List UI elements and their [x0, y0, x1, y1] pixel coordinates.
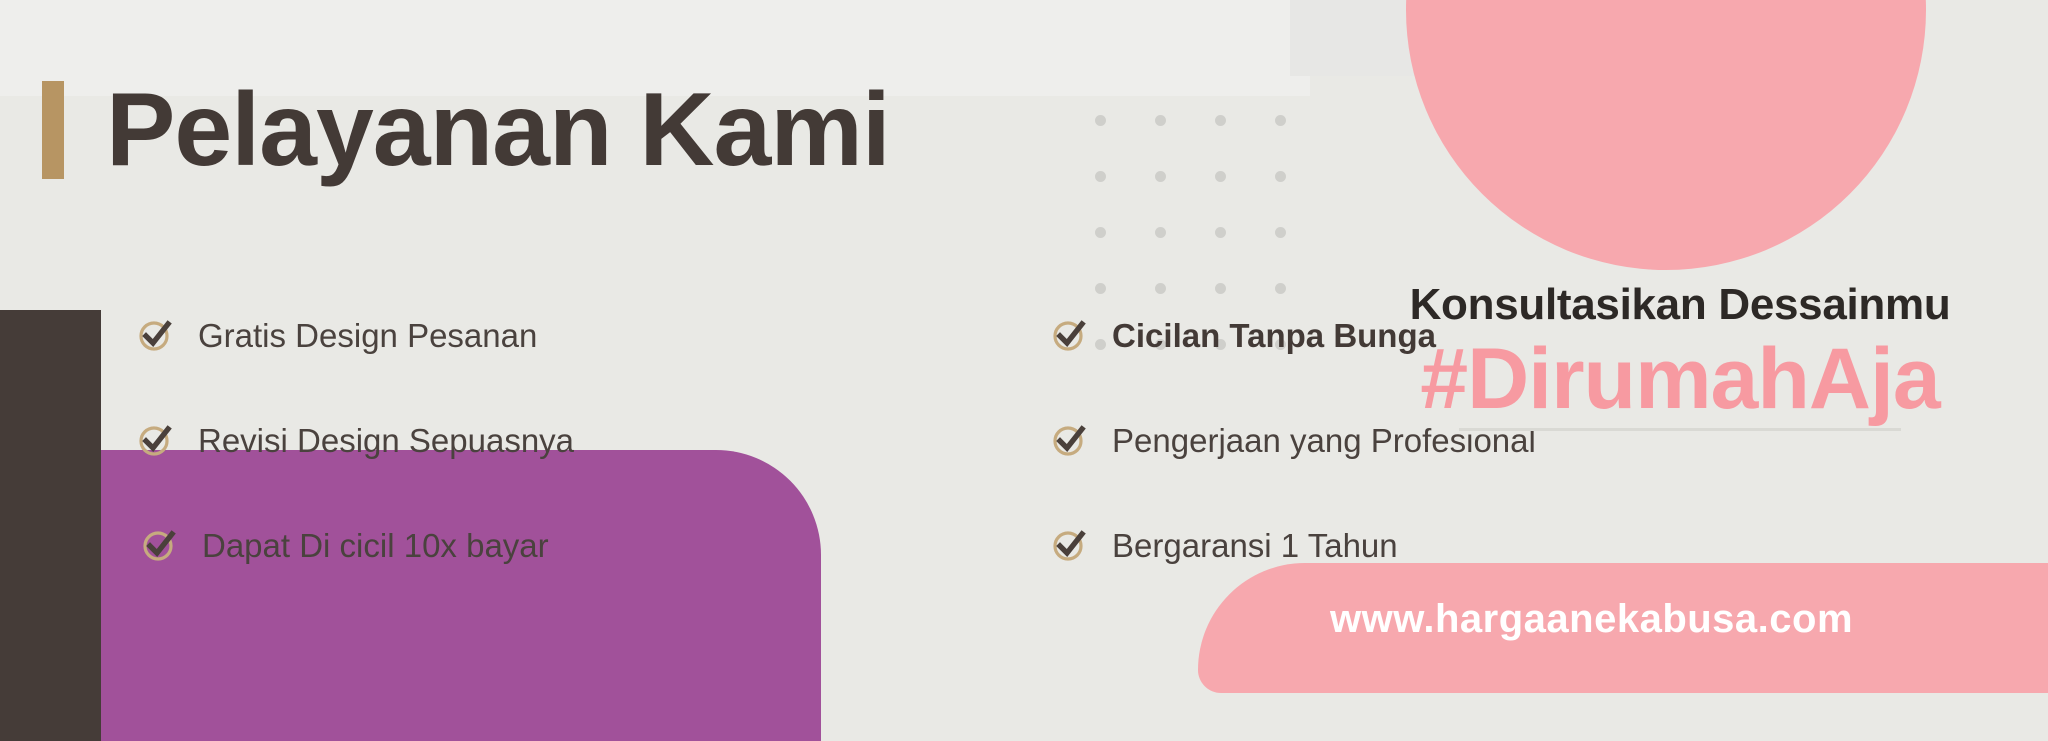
check-circle-icon: [140, 426, 170, 456]
dark-vertical-bar-decoration: [0, 310, 101, 741]
list-item: Revisi Design Sepuasnya: [140, 388, 574, 493]
grid-dot: [1095, 171, 1106, 182]
check-circle-icon: [144, 531, 174, 561]
list-item-label: Revisi Design Sepuasnya: [198, 422, 574, 460]
check-circle-icon: [140, 321, 170, 351]
list-item-label: Gratis Design Pesanan: [198, 317, 537, 355]
check-circle-icon: [1054, 321, 1084, 351]
grid-dot: [1215, 227, 1226, 238]
grid-dot: [1095, 115, 1106, 126]
pink-circle-decoration: [1406, 0, 1926, 270]
check-circle-icon: [1054, 531, 1084, 561]
promo-underline: [1459, 428, 1901, 431]
list-item: Gratis Design Pesanan: [140, 283, 574, 388]
grid-dot: [1095, 227, 1106, 238]
grid-dot: [1155, 115, 1166, 126]
grid-dot: [1275, 227, 1286, 238]
grid-dot: [1275, 115, 1286, 126]
feature-column-left: Gratis Design Pesanan Revisi Design Sepu…: [118, 283, 574, 598]
title-accent-bar: [42, 81, 64, 179]
grid-dot: [1215, 115, 1226, 126]
promo-block: Konsultasikan Dessainmu #DirumahAja: [1320, 280, 2040, 431]
list-item-label: Dapat Di cicil 10x bayar: [202, 527, 549, 565]
title-text: Pelayanan Kami: [106, 78, 890, 182]
grid-dot: [1275, 171, 1286, 182]
list-item: Dapat Di cicil 10x bayar: [144, 493, 574, 598]
grid-dot: [1215, 171, 1226, 182]
list-item-label: Bergaransi 1 Tahun: [1112, 527, 1398, 565]
grid-dot: [1155, 227, 1166, 238]
page-title: Pelayanan Kami: [42, 78, 890, 182]
service-banner: Pelayanan Kami Gratis Design Pesanan: [0, 0, 2048, 741]
website-url[interactable]: www.hargaanekabusa.com: [1330, 597, 1853, 642]
grid-dot: [1155, 171, 1166, 182]
promo-headline: Konsultasikan Dessainmu: [1320, 280, 2040, 330]
check-circle-icon: [1054, 426, 1084, 456]
promo-hashtag: #DirumahAja: [1320, 334, 2040, 424]
